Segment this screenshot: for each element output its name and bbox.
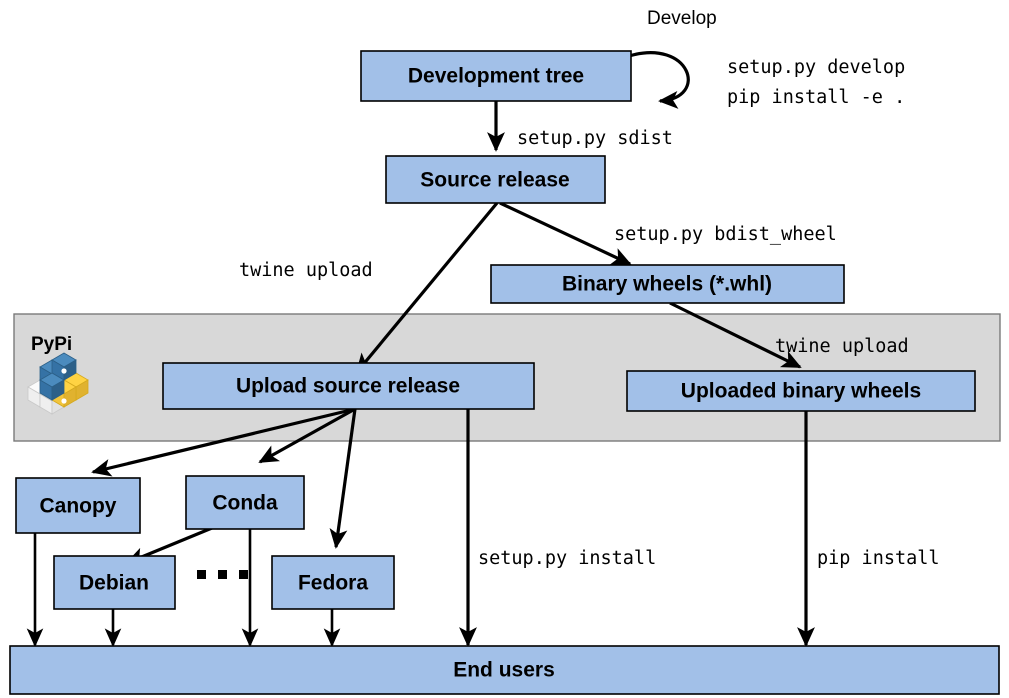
node-canopy-label: Canopy [39, 495, 116, 518]
edge-develop-self-loop [629, 53, 688, 101]
diagram-root: PyPi [0, 0, 1009, 698]
edge-label-setup-py-install: setup.py install [478, 548, 656, 569]
node-development-tree[interactable]: Development tree [361, 51, 631, 101]
node-debian-label: Debian [79, 572, 149, 595]
node-upload-source-release[interactable]: Upload source release [163, 363, 534, 409]
node-conda-label: Conda [212, 492, 278, 515]
node-source-release[interactable]: Source release [386, 156, 605, 203]
node-binary-wheels-label: Binary wheels (*.whl) [562, 273, 772, 296]
edge-label-twine-upload-source: twine upload [239, 260, 373, 281]
node-end-users-label: End users [453, 659, 555, 682]
node-source-release-label: Source release [420, 169, 569, 192]
node-debian[interactable]: Debian [54, 556, 175, 609]
node-development-tree-label: Development tree [408, 65, 584, 88]
ellipsis-dots [197, 570, 248, 579]
node-conda[interactable]: Conda [186, 476, 304, 529]
edge-source-release-to-binary-wheels [500, 203, 630, 264]
pypi-group-title: PyPi [31, 334, 72, 355]
node-uploaded-binary-wheels[interactable]: Uploaded binary wheels [627, 371, 975, 411]
node-canopy[interactable]: Canopy [16, 478, 140, 533]
node-upload-source-release-label: Upload source release [236, 375, 460, 398]
edge-label-twine-upload-wheels: twine upload [775, 336, 909, 357]
edge-label-setup-py-sdist: setup.py sdist [517, 128, 673, 149]
edge-label-pip-install: pip install [817, 548, 940, 569]
node-fedora-label: Fedora [298, 572, 368, 595]
node-end-users[interactable]: End users [10, 646, 999, 694]
node-binary-wheels[interactable]: Binary wheels (*.whl) [491, 265, 844, 303]
node-uploaded-binary-wheels-label: Uploaded binary wheels [681, 380, 921, 403]
packaging-flow-diagram: PyPi [0, 0, 1009, 698]
node-fedora[interactable]: Fedora [272, 556, 394, 609]
edge-label-setup-py-bdist-wheel: setup.py bdist_wheel [614, 224, 837, 245]
edge-label-setup-py-develop: setup.py develop [727, 57, 905, 78]
edge-label-develop: Develop [647, 8, 717, 29]
edge-label-pip-install-editable: pip install -e . [727, 87, 905, 108]
